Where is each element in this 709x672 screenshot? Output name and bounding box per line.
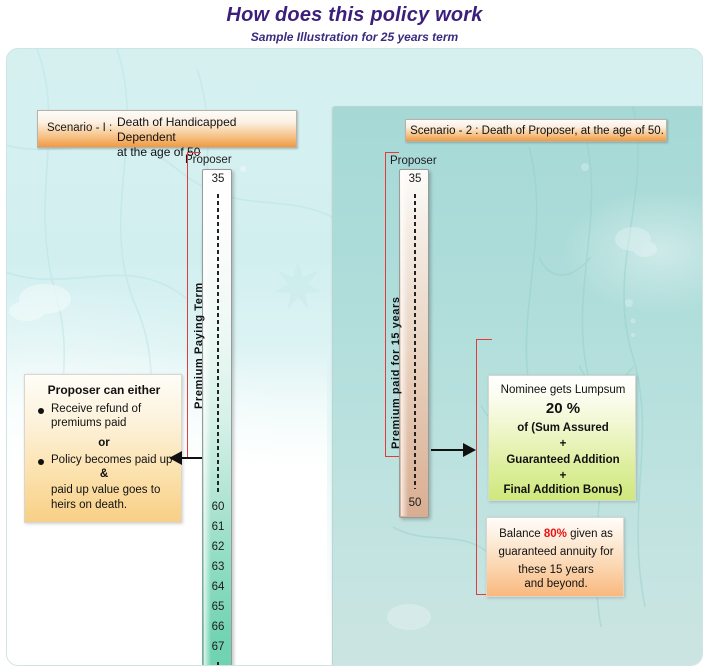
balance-line-1: Balance 80% given as: [487, 528, 625, 540]
scenario-1-proposer-label: Proposer: [185, 154, 232, 166]
proposer-option-2-line4: heirs on death.: [51, 498, 127, 512]
nominee-line-7: Final Addition Bonus): [489, 484, 637, 496]
balance-percent: 80%: [544, 528, 567, 540]
left-bar-value-top: 35: [203, 173, 233, 185]
screenshot-root: How does this policy work Sample Illustr…: [0, 0, 709, 672]
nominee-payout-box: Nominee gets Lumpsum 20 % of (Sum Assure…: [488, 375, 636, 501]
bullet-icon-2: [38, 459, 44, 465]
nominee-line-3: of (Sum Assured: [489, 422, 637, 434]
nominee-plus-2: +: [489, 470, 637, 482]
scenario-2-label: Scenario - 2 : Death of Proposer, at the…: [406, 120, 668, 143]
proposer-option-2-line3: paid up value goes to: [51, 483, 160, 497]
left-bar-value-2: 62: [203, 541, 233, 553]
left-bar-value-1: 61: [203, 521, 233, 533]
left-bar-value-4: 64: [203, 581, 233, 593]
left-bar-value-0: 60: [203, 501, 233, 513]
premium-paying-term-bar: 35 60 61 62 63 64 65 66 67 75: [202, 169, 232, 666]
nominee-line-5: Guaranteed Addition: [489, 454, 637, 466]
arrow-head-right-icon: [463, 443, 476, 457]
scenario-1-text-line1: Death of Handicapped Dependent: [117, 115, 296, 145]
proposer-option-2-line1: Policy becomes paid up: [51, 453, 172, 467]
left-bar-value-6: 66: [203, 621, 233, 633]
bullet-icon-1: [38, 408, 44, 414]
premium-paid-label: Premium paid for 15 years: [390, 296, 402, 449]
left-bar-value-5: 65: [203, 601, 233, 613]
premium-paid-bar: 35 50: [399, 169, 429, 518]
right-bar-value-bottom: 50: [400, 497, 430, 509]
proposer-option-1-line1: Receive refund of: [51, 402, 141, 416]
scenario-1-header: Scenario - I : Death of Handicapped Depe…: [37, 110, 297, 148]
proposer-options-box: Proposer can either Receive refund of pr…: [24, 374, 182, 523]
illustration-canvas: Scenario - I : Death of Handicapped Depe…: [6, 48, 703, 666]
balance-line-2: guaranteed annuity for: [487, 546, 625, 558]
balance-line-1-pre: Balance: [499, 528, 544, 540]
nominee-plus-1: +: [489, 438, 637, 450]
proposer-option-1-line2: premiums paid: [51, 416, 141, 430]
proposer-options-heading: Proposer can either: [25, 383, 183, 397]
page-subtitle: Sample Illustration for 25 years term: [0, 30, 709, 44]
scenario-2-header: Scenario - 2 : Death of Proposer, at the…: [405, 119, 667, 142]
right-bar-value-top: 35: [400, 173, 430, 185]
proposer-option-2-line2: &: [25, 467, 183, 481]
left-bar-dotted-line-lower: [217, 662, 219, 666]
proposer-options-or: or: [25, 436, 183, 450]
arrow-head-left-icon: [169, 451, 182, 465]
balance-line-3: these 15 years: [487, 564, 625, 576]
nominee-line-1: Nominee gets Lumpsum: [489, 384, 637, 396]
left-bar-dotted-line-upper: [217, 194, 219, 494]
left-bar-value-3: 63: [203, 561, 233, 573]
balance-annuity-box: Balance 80% given as guaranteed annuity …: [486, 517, 624, 597]
page-title: How does this policy work: [0, 4, 709, 27]
balance-line-4: and beyond.: [487, 578, 625, 590]
balance-line-1-post: given as: [567, 528, 613, 540]
bar-highlight-right: [401, 171, 408, 516]
left-bar-value-7: 67: [203, 641, 233, 653]
scenario-1-label: Scenario - I :: [47, 122, 112, 134]
proposer-option-1: Receive refund of premiums paid: [51, 402, 141, 430]
nominee-percent: 20 %: [489, 400, 637, 417]
scenario-2-proposer-label: Proposer: [390, 155, 437, 167]
premium-paying-term-label: Premium Paying Term: [193, 282, 205, 409]
right-bar-dotted-line: [414, 194, 416, 489]
